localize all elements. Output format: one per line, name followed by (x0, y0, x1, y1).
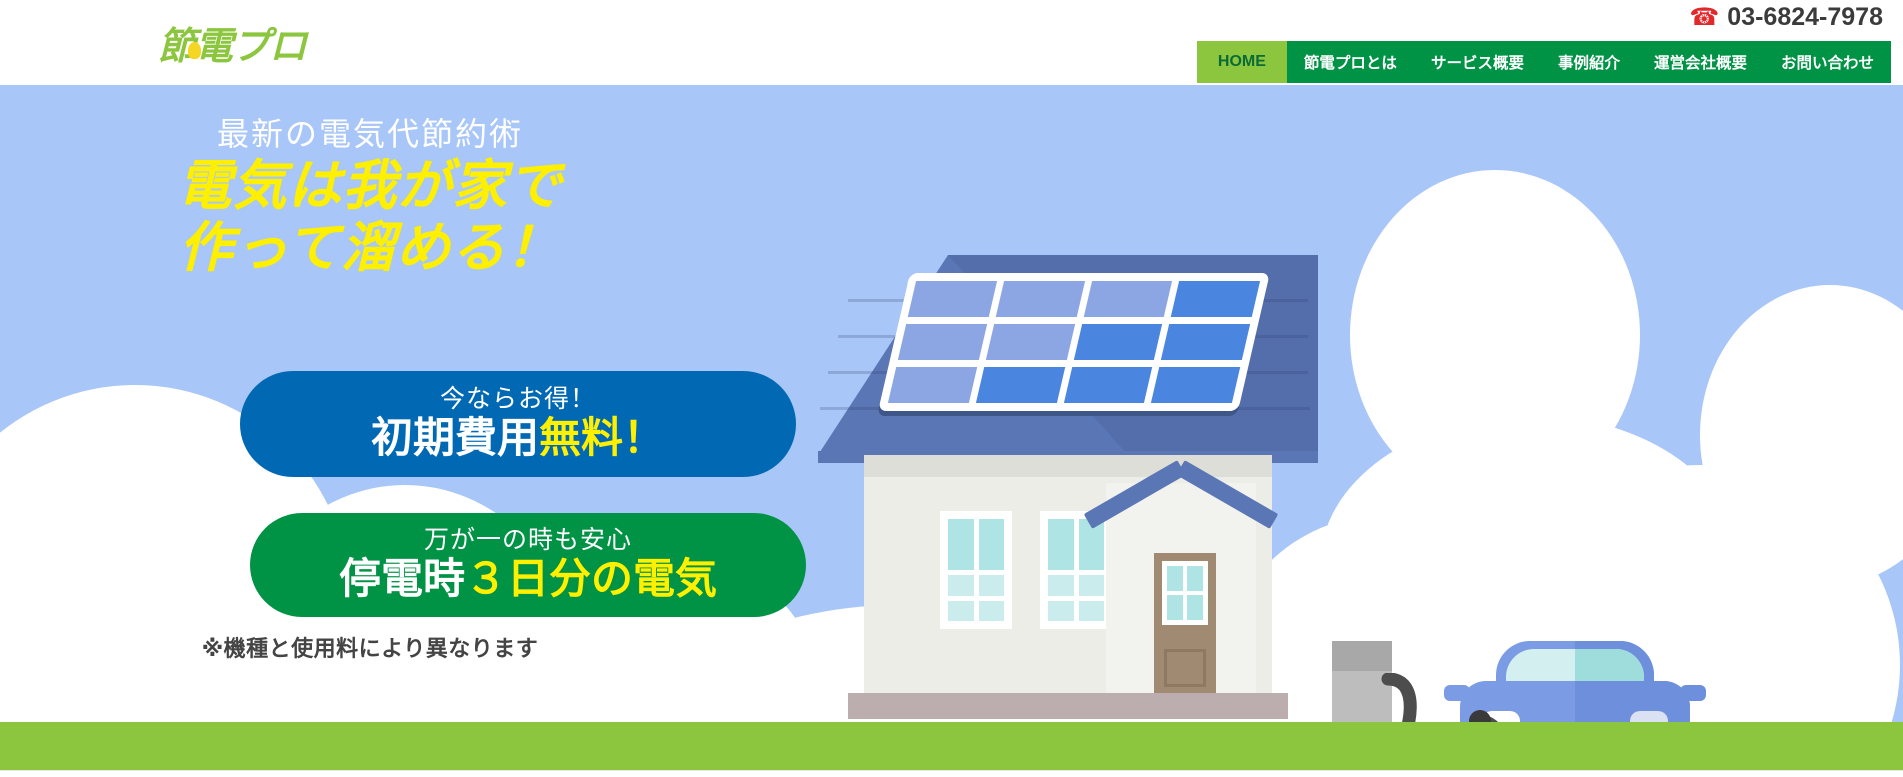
badge-green-top-text: 万が一の時も安心 (424, 528, 632, 553)
badge-blue-top-text: 今ならお得！ (440, 387, 596, 412)
badge-blue-main-text: 初期費用無料！ (371, 416, 665, 460)
hero-banner: 最新の電気代節約術 電気は我が家で 作って溜める！ 今ならお得！ 初期費用無料！… (0, 85, 1903, 722)
page-bottom-edge (0, 770, 1903, 777)
hero-headline-line-1: 電気は我が家で (0, 155, 740, 217)
car-mirror-right (1680, 685, 1706, 701)
badge-blue-main-highlight: 無料！ (539, 414, 665, 461)
badge-blue-main-prefix: 初期費用 (371, 414, 539, 461)
badge-green-main-highlight: ３日分の電気 (465, 555, 717, 602)
nav-item-contact[interactable]: お問い合わせ (1764, 41, 1891, 83)
charger-head (1332, 641, 1392, 671)
badge-blackout-backup[interactable]: 万が一の時も安心 停電時３日分の電気 (250, 513, 806, 617)
nav-item-home[interactable]: HOME (1197, 41, 1287, 83)
nav-item-cases[interactable]: 事例紹介 (1541, 41, 1637, 83)
hero-kicker: 最新の電気代節約術 (0, 109, 740, 155)
house-window (940, 511, 1012, 629)
hero-disclaimer-note: ※機種と使用料により異なります (0, 631, 740, 663)
nav-item-service[interactable]: サービス概要 (1414, 41, 1541, 83)
logo-text: 節電プロ (158, 26, 306, 68)
nav-item-about[interactable]: 節電プロとは (1287, 41, 1414, 83)
landing-page: 節電プロ ☎ 03-6824-7978 HOME 節電プロとは サービス概要 事… (0, 0, 1903, 777)
telephone-icon: ☎ (1689, 6, 1719, 30)
grass-bar (0, 722, 1903, 770)
main-navigation: HOME 節電プロとは サービス概要 事例紹介 運営会社概要 お問い合わせ (1197, 41, 1891, 83)
charging-cable-icon (1380, 673, 1550, 722)
solar-panel (878, 273, 1270, 411)
hero-headline-line-2: 作って溜める！ (0, 217, 740, 279)
car-headlight-right (1630, 711, 1668, 722)
badge-green-main-text: 停電時３日分の電気 (339, 557, 717, 601)
house-with-solar-panel-illustration (818, 255, 1318, 722)
house-door (1154, 553, 1216, 703)
phone-number: 03-6824-7978 (1727, 3, 1883, 32)
phone-contact[interactable]: ☎ 03-6824-7978 (1689, 3, 1883, 32)
house-wall-top-band (864, 455, 1272, 477)
nav-item-company[interactable]: 運営会社概要 (1637, 41, 1764, 83)
site-logo[interactable]: 節電プロ (158, 28, 306, 66)
solar-panel-cells (888, 281, 1260, 403)
hero-copy: 最新の電気代節約術 電気は我が家で 作って溜める！ 今ならお得！ 初期費用無料！… (0, 85, 760, 722)
house-foundation (848, 693, 1288, 719)
door-window (1162, 561, 1208, 625)
site-header: 節電プロ ☎ 03-6824-7978 HOME 節電プロとは サービス概要 事… (0, 0, 1903, 85)
badge-green-main-prefix: 停電時 (339, 555, 465, 602)
porch-roof (1090, 479, 1272, 541)
door-panel (1164, 649, 1206, 687)
lightbulb-icon (188, 42, 201, 59)
hero-headline: 電気は我が家で 作って溜める！ (0, 155, 740, 279)
badge-initial-cost-free[interactable]: 今ならお得！ 初期費用無料！ (240, 371, 796, 477)
